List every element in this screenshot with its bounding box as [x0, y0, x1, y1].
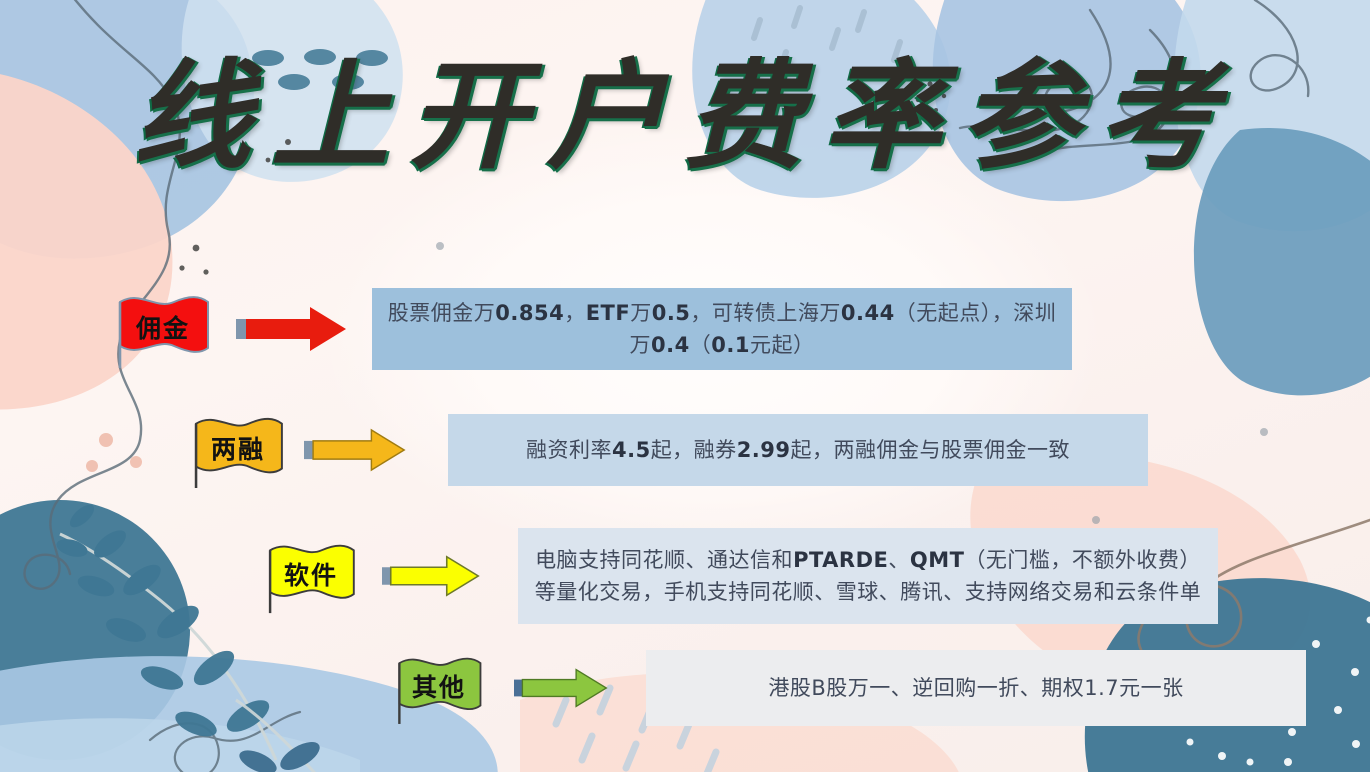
row-other: 其他 港股B股万一、逆回购一折、期权1.7元一张	[392, 650, 1306, 726]
textbox-margin-text: 融资利率4.5起，融券2.99起，两融佣金与股票佣金一致	[526, 434, 1070, 466]
flag-shape	[399, 659, 480, 710]
textbox-margin: 融资利率4.5起，融券2.99起，两融佣金与股票佣金一致	[448, 414, 1148, 486]
flag-other: 其他	[392, 650, 486, 726]
row-software: 软件 电脑支持同花顺、通达信和PTARDE、QMT（无门槛，不额外收费）等量化交…	[262, 528, 1218, 624]
textbox-commission-text: 股票佣金万0.854，ETF万0.5，可转债上海万0.44（无起点），深圳万0.…	[386, 297, 1058, 361]
arrow-shape	[391, 557, 479, 596]
textbox-commission: 股票佣金万0.854，ETF万0.5，可转债上海万0.44（无起点），深圳万0.…	[372, 288, 1072, 370]
leaf-branch-lower	[236, 700, 330, 772]
poster-canvas: 线上开户费率参考 佣金 股票佣金万0.854，ETF万0.5，可转债上海万0.4…	[0, 0, 1370, 772]
row-margin: 两融 融资利率4.5起，融券2.99起，两融佣金与股票佣金一致	[188, 410, 1148, 490]
arrow-software	[382, 551, 480, 601]
flag-margin: 两融	[188, 410, 288, 490]
textbox-software: 电脑支持同花顺、通达信和PTARDE、QMT（无门槛，不额外收费）等量化交易，手…	[518, 528, 1218, 624]
arrow-other	[514, 664, 608, 712]
flag-shape	[196, 419, 282, 472]
leaf-branch	[54, 501, 276, 760]
squiggle-line-bottomleft	[150, 712, 300, 772]
arrow-tail-cap	[382, 567, 391, 585]
textbox-other: 港股B股万一、逆回购一折、期权1.7元一张	[646, 650, 1306, 726]
arrow-tail-cap	[236, 319, 246, 339]
speckles-pink	[86, 433, 142, 472]
arrow-shape	[246, 307, 346, 351]
arrow-margin	[304, 424, 406, 476]
row-commission: 佣金 股票佣金万0.854，ETF万0.5，可转债上海万0.44（无起点），深圳…	[112, 288, 1072, 370]
flag-shape	[270, 546, 354, 598]
flag-software: 软件	[262, 537, 360, 615]
arrow-shape	[522, 670, 606, 707]
textbox-software-text: 电脑支持同花顺、通达信和PTARDE、QMT（无门槛，不额外收费）等量化交易，手…	[532, 544, 1204, 608]
arrow-tail-cap	[514, 680, 522, 697]
blob-blue-bottomleft-b	[0, 718, 360, 772]
arrow-commission	[236, 303, 348, 355]
arrow-shape	[313, 430, 404, 470]
flag-shape	[120, 297, 208, 352]
flag-commission: 佣金	[112, 288, 214, 370]
arrow-tail-cap	[304, 441, 313, 459]
page-title: 线上开户费率参考	[0, 52, 1370, 180]
circle-teal-left	[0, 500, 190, 760]
textbox-other-text: 港股B股万一、逆回购一折、期权1.7元一张	[768, 672, 1183, 704]
